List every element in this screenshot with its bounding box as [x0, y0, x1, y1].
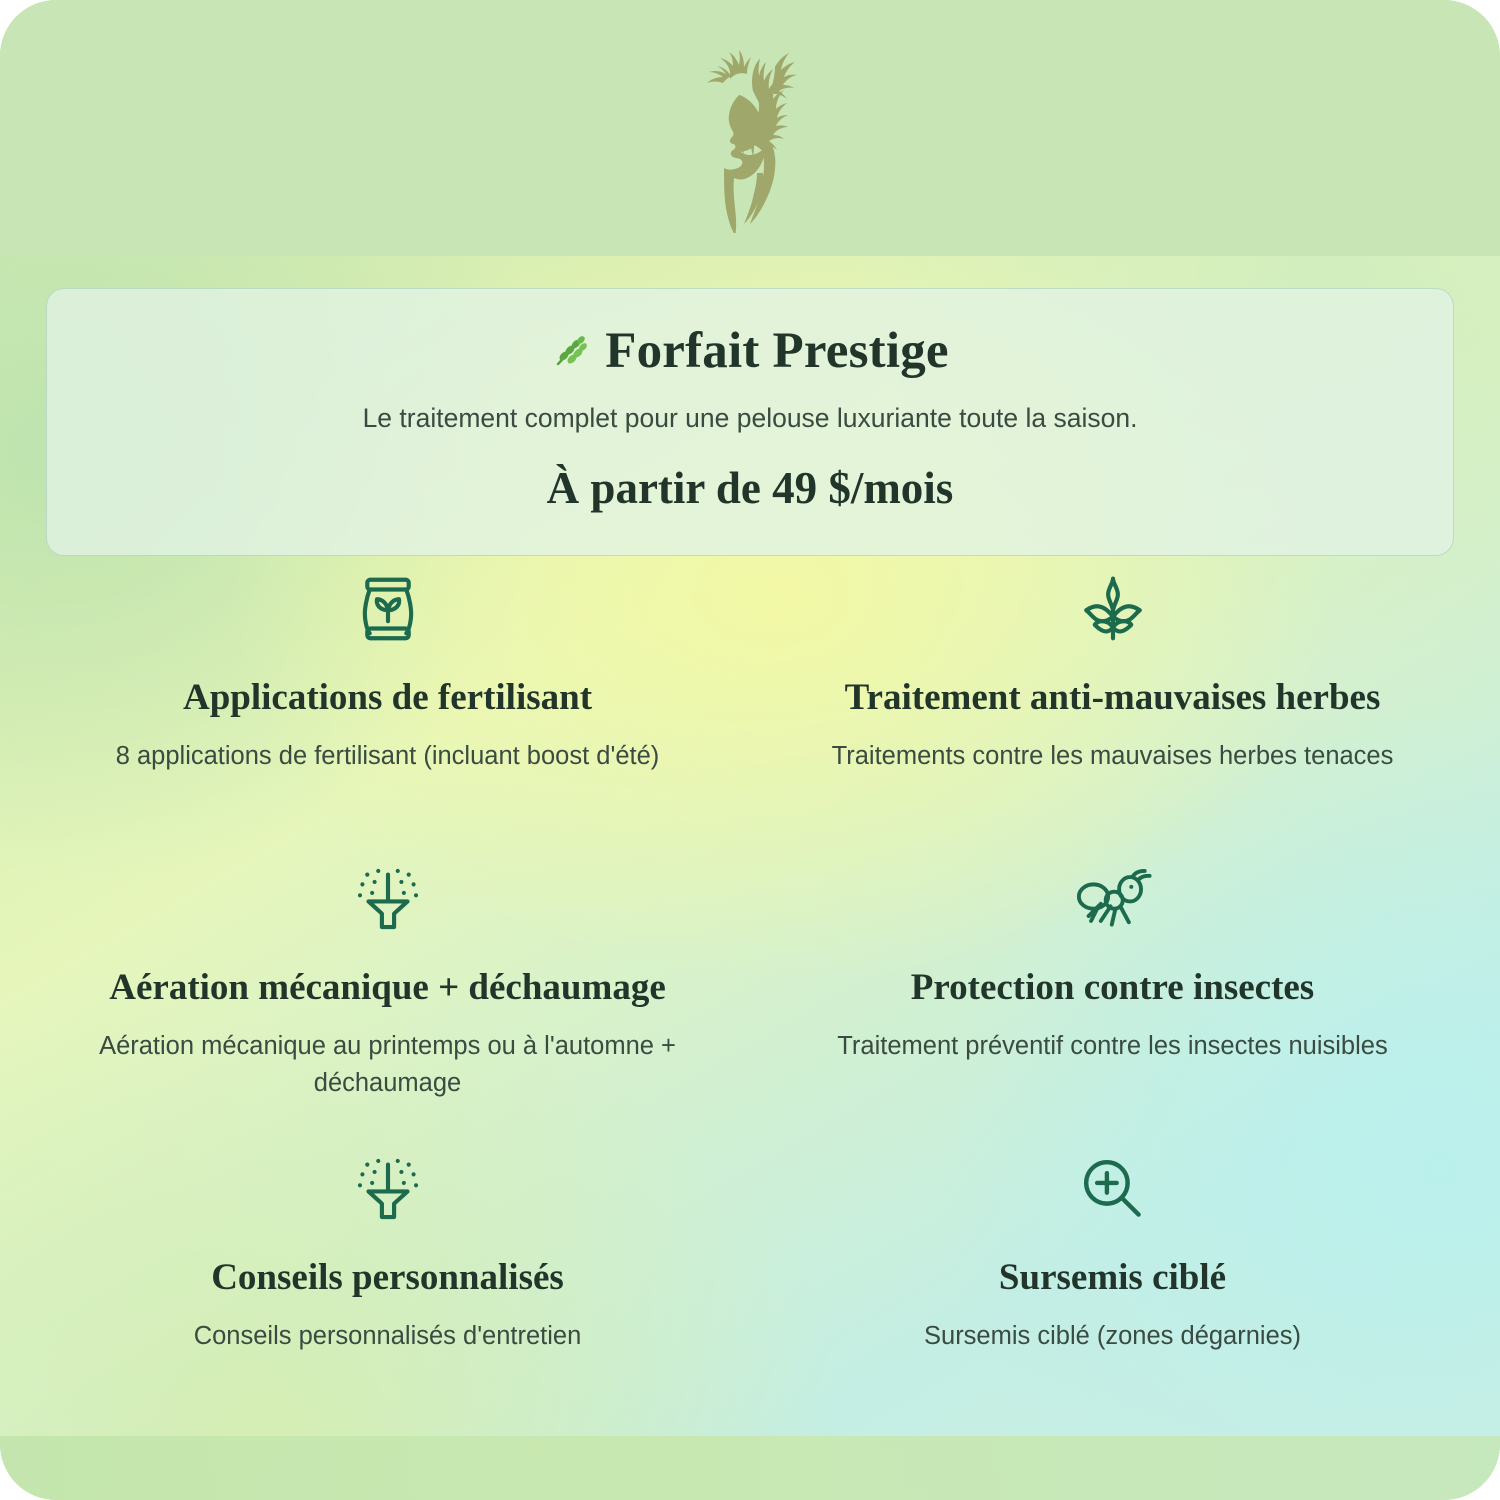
feature-item-personalized-advice: Conseils personnalisés Conseils personna…: [40, 1126, 735, 1416]
weed-leaf-icon: [783, 564, 1442, 654]
feature-description: Conseils personnalisés d'entretien: [58, 1318, 717, 1354]
herb-leaf-icon: [551, 331, 591, 371]
feature-description: Traitements contre les mauvaises herbes …: [783, 738, 1442, 774]
feature-description: 8 applications de fertilisant (incluant …: [58, 738, 717, 774]
feature-item-weed-control: Traitement anti-mauvaises herbes Traitem…: [765, 546, 1460, 836]
feature-grid: Applications de fertilisant 8 applicatio…: [40, 546, 1460, 1416]
feature-item-fertilizer: Applications de fertilisant 8 applicatio…: [40, 546, 735, 836]
prestige-package-card: Forfait Prestige Le traitement complet p…: [0, 0, 1500, 1500]
feature-description: Aération mécanique au printemps ou à l'a…: [58, 1028, 717, 1100]
plan-title-text: Forfait Prestige: [605, 323, 949, 379]
ant-icon: [783, 854, 1442, 944]
sprayer-nozzle-icon: [58, 1144, 717, 1234]
feature-title: Aération mécanique + déchaumage: [58, 966, 717, 1010]
plan-hero-card: Forfait Prestige Le traitement complet p…: [46, 288, 1454, 556]
footer-band: [0, 1436, 1500, 1500]
content-area: Forfait Prestige Le traitement complet p…: [0, 256, 1500, 1500]
plan-subtitle: Le traitement complet pour une pelouse l…: [87, 401, 1413, 437]
plan-title-row: Forfait Prestige: [87, 323, 1413, 379]
plan-price: À partir de 49 $/mois: [87, 463, 1413, 515]
feature-title: Applications de fertilisant: [58, 676, 717, 720]
fertilizer-bag-icon: [58, 564, 717, 654]
feature-item-aeration: Aération mécanique + déchaumage Aération…: [40, 836, 735, 1126]
brand-logo: [675, 23, 825, 233]
sprayer-nozzle-icon: [58, 854, 717, 944]
feature-title: Traitement anti-mauvaises herbes: [783, 676, 1442, 720]
feature-item-insect-protection: Protection contre insectes Traitement pr…: [765, 836, 1460, 1126]
feature-title: Sursemis ciblé: [783, 1256, 1442, 1300]
feature-description: Traitement préventif contre les insectes…: [783, 1028, 1442, 1064]
feature-item-overseeding: Sursemis ciblé Sursemis ciblé (zones dég…: [765, 1126, 1460, 1416]
feature-description: Sursemis ciblé (zones dégarnies): [783, 1318, 1442, 1354]
header-band: [0, 0, 1500, 256]
feature-title: Conseils personnalisés: [58, 1256, 717, 1300]
magnifier-plus-icon: [783, 1144, 1442, 1234]
feature-title: Protection contre insectes: [783, 966, 1442, 1010]
